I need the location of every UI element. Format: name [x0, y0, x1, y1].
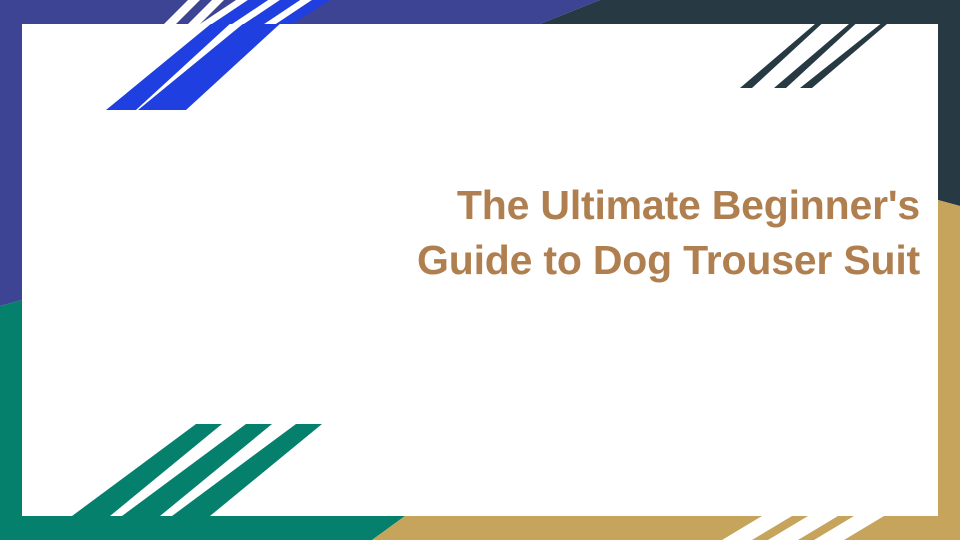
- top-left-stripe-3: [156, 0, 306, 110]
- slide-title-line-2: Guide to Dog Trouser Suit: [330, 233, 920, 288]
- right-band-slate: [938, 24, 960, 206]
- bottom-left-stripe-1: [72, 424, 222, 516]
- bottom-left-stripe-3: [172, 424, 322, 516]
- bottom-left-stripe-2: [122, 424, 272, 516]
- top-band-blue-1: [212, 0, 268, 24]
- slide-title: The Ultimate Beginner's Guide to Dog Tro…: [330, 178, 920, 288]
- top-band-blue-3: [276, 0, 330, 24]
- top-right-stripe-group: [740, 18, 894, 88]
- top-band-notch-3: [200, 0, 248, 24]
- top-left-band-notch-group: [164, 0, 312, 24]
- slide-title-line-1: The Ultimate Beginner's: [330, 178, 920, 233]
- right-band-gold: [938, 200, 960, 540]
- bottom-band-teal: [0, 516, 405, 540]
- top-band-notch-4: [232, 0, 280, 24]
- bottom-right-stripe-group: [722, 516, 884, 540]
- bottom-right-stripe-3: [814, 516, 884, 540]
- top-band-notch-5: [264, 0, 312, 24]
- bottom-band-gold: [372, 516, 960, 540]
- top-band-notch-1: [164, 0, 200, 24]
- top-left-stripe-group: [106, 0, 330, 110]
- left-band-indigo: [0, 24, 22, 306]
- left-band-group: [0, 24, 22, 540]
- left-band-teal: [0, 300, 22, 540]
- top-band-group: [0, 0, 960, 24]
- bottom-right-stripe-2: [768, 516, 838, 540]
- top-right-stripe-3: [800, 18, 894, 88]
- top-right-stripe-1: [740, 18, 828, 88]
- top-right-stripe-2: [774, 18, 862, 88]
- bottom-right-stripe-1: [722, 516, 792, 540]
- top-left-stripe-1: [106, 0, 256, 110]
- top-band-indigo: [0, 0, 600, 24]
- right-band-group: [938, 24, 960, 540]
- presentation-slide: The Ultimate Beginner's Guide to Dog Tro…: [0, 0, 960, 540]
- bottom-band-group: [0, 516, 960, 540]
- top-band-notch-2: [188, 0, 224, 24]
- top-band-slate: [540, 0, 960, 24]
- top-left-band-blue-group: [212, 0, 330, 24]
- bottom-left-stripe-group: [72, 424, 322, 516]
- top-band-blue-2: [244, 0, 300, 24]
- top-left-stripe-2: [138, 0, 288, 110]
